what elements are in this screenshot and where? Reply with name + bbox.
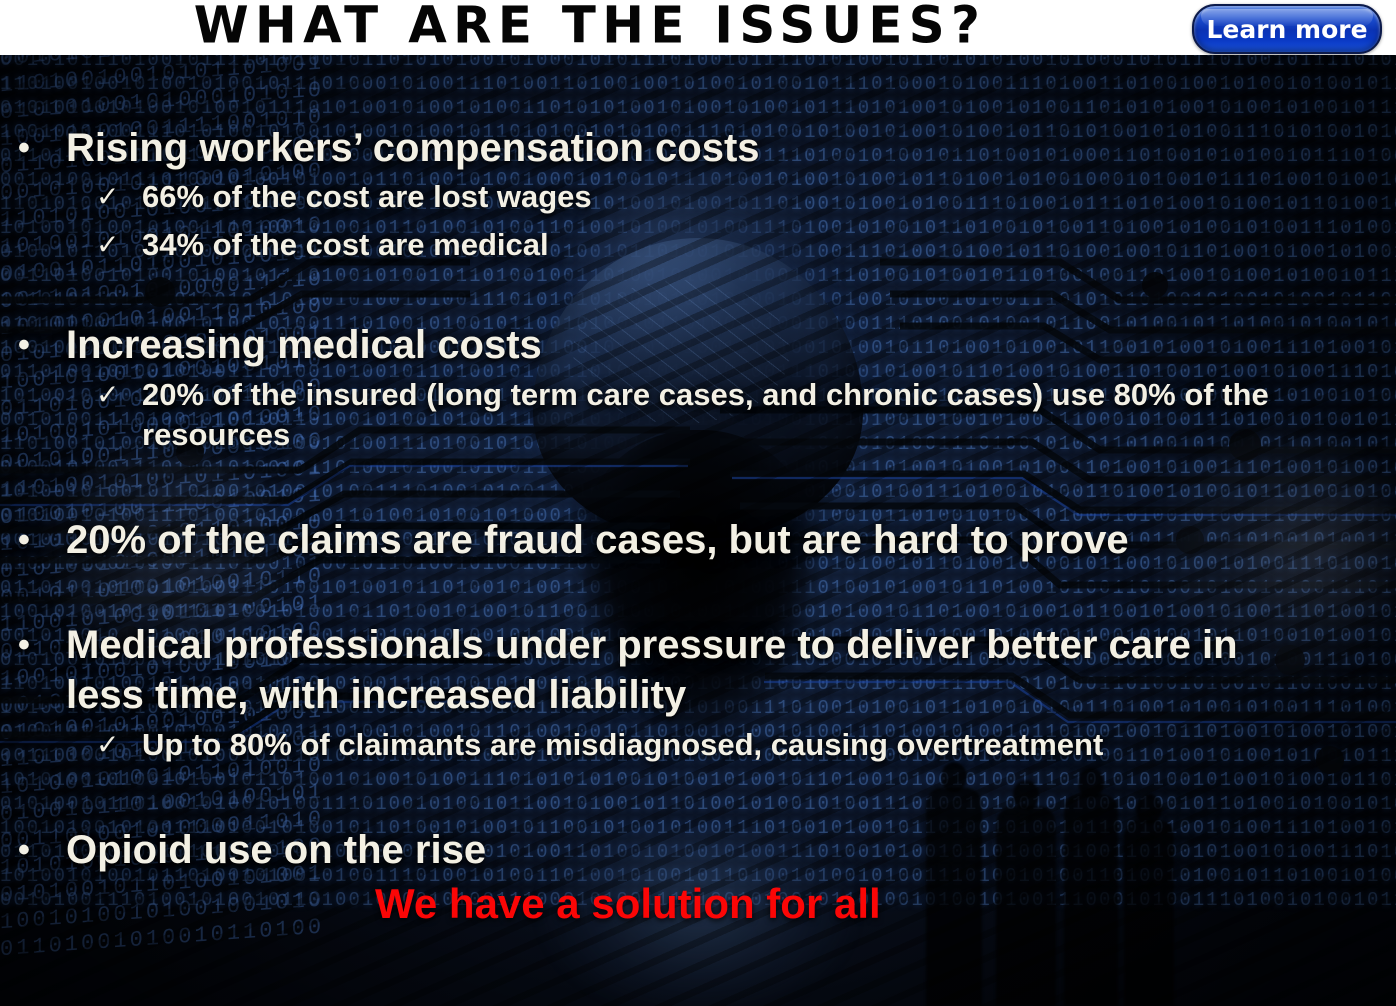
sub-bullet-item: ✓Up to 80% of claimants are misdiagnosed…	[96, 725, 1396, 765]
checkmark-icon: ✓	[96, 375, 142, 415]
bullet-item: •Opioid use on the rise	[18, 825, 1018, 875]
bullet-list: •Rising workers’ compensation costs✓66% …	[0, 55, 1396, 1006]
sub-bullet-item: ✓20% of the insured (long term care case…	[96, 375, 1386, 455]
bullet-label: Medical professionals under pressure to …	[66, 620, 1268, 720]
bullet-dot-icon: •	[18, 515, 66, 565]
learn-more-button[interactable]: Learn more	[1192, 4, 1382, 54]
learn-more-button-label: Learn more	[1206, 15, 1367, 44]
sub-bullet-label: 20% of the insured (long term care cases…	[142, 375, 1386, 455]
checkmark-icon: ✓	[96, 225, 142, 265]
presentation-slide: 0100101011010100101001001110101101001010…	[0, 0, 1396, 1006]
sub-bullet-label: 66% of the cost are lost wages	[142, 177, 592, 217]
bullet-item: •Rising workers’ compensation costs	[18, 123, 1018, 173]
sub-bullet-label: Up to 80% of claimants are misdiagnosed,…	[142, 725, 1103, 765]
bullet-dot-icon: •	[18, 320, 66, 370]
bullet-label: Rising workers’ compensation costs	[66, 123, 760, 173]
bullet-label: 20% of the claims are fraud cases, but a…	[66, 515, 1129, 565]
bullet-dot-icon: •	[18, 620, 66, 670]
bullet-dot-icon: •	[18, 825, 66, 875]
sub-bullet-item: ✓66% of the cost are lost wages	[96, 177, 1196, 217]
bullet-dot-icon: •	[18, 123, 66, 173]
page-title: WHAT ARE THE ISSUES?	[0, 0, 1215, 55]
sub-bullet-item: ✓34% of the cost are medical	[96, 225, 1196, 265]
bullet-item: •Medical professionals under pressure to…	[18, 620, 1268, 720]
bullet-item: •20% of the claims are fraud cases, but …	[18, 515, 1358, 565]
checkmark-icon: ✓	[96, 177, 142, 217]
solution-callout: We have a solution for all	[375, 880, 881, 928]
bullet-item: •Increasing medical costs	[18, 320, 1018, 370]
checkmark-icon: ✓	[96, 725, 142, 765]
bullet-label: Opioid use on the rise	[66, 825, 486, 875]
bullet-label: Increasing medical costs	[66, 320, 542, 370]
sub-bullet-label: 34% of the cost are medical	[142, 225, 549, 265]
